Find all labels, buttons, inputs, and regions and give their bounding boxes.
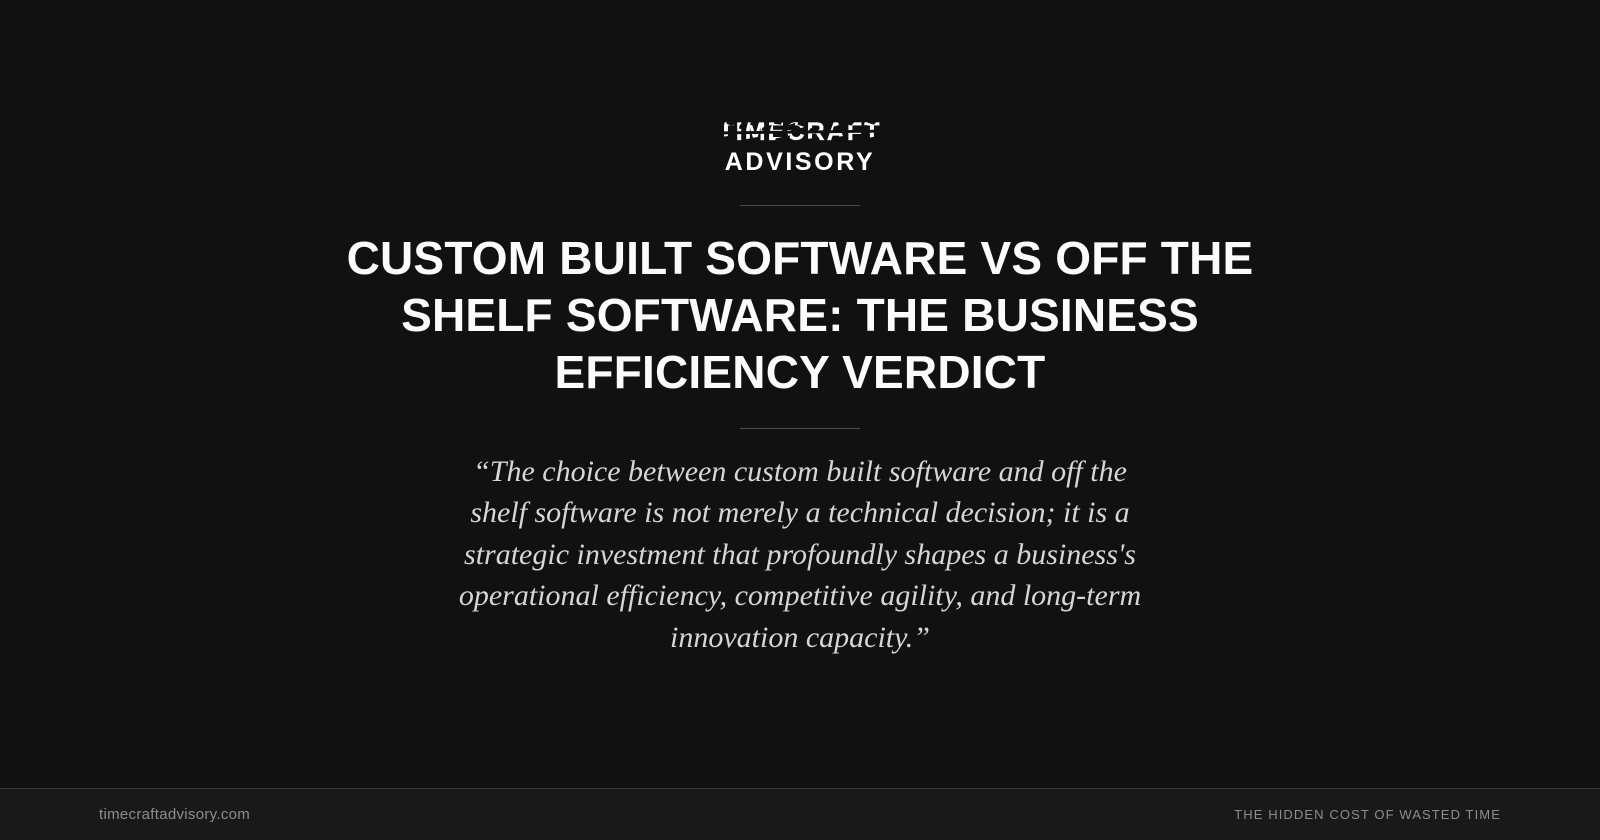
brand-logo-primary-wordmark: TIMECRAFT — [718, 120, 881, 145]
slide-pull-quote: “The choice between custom built softwar… — [450, 451, 1150, 658]
brand-logo-primary-text: TIMECRAFT — [718, 118, 881, 146]
slide-footer: timecraftadvisory.com THE HIDDEN COST OF… — [0, 788, 1600, 840]
presentation-slide: TIMECRAFT — [0, 0, 1600, 840]
footer-tagline: THE HIDDEN COST OF WASTED TIME — [1234, 807, 1501, 822]
divider-above-title — [740, 205, 860, 206]
brand-logo-secondary-text: ADVISORY — [725, 150, 875, 175]
slide-title: CUSTOM BUILT SOFTWARE VS OFF THE SHELF S… — [305, 230, 1295, 401]
slide-content-stage: TIMECRAFT — [0, 0, 1600, 788]
footer-website-url: timecraftadvisory.com — [99, 806, 250, 823]
brand-logo: TIMECRAFT — [718, 120, 881, 175]
divider-below-title — [740, 428, 860, 429]
